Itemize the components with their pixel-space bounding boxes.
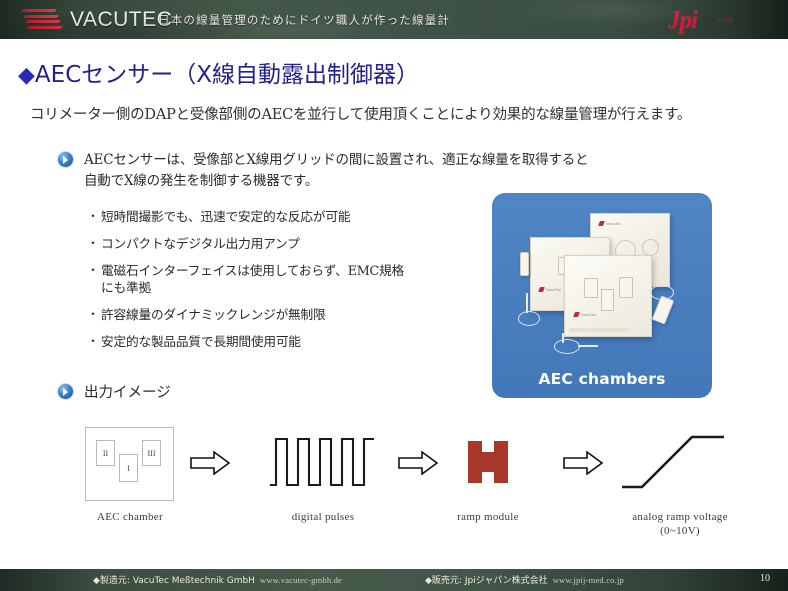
jpi-logo-mark: Jpi — [668, 7, 697, 35]
block-arrow-right-icon-2 — [398, 451, 438, 475]
description-paragraph: AECセンサーは、受像部とX線用グリッドの間に設置され、適正な線量を取得すると … — [84, 150, 504, 192]
footer-left-diamond-icon: ◆ — [93, 576, 100, 586]
footer-right-label: 販売元: Jpiジャパン株式会社 — [432, 576, 548, 586]
vacutec-wave-logo-icon — [22, 6, 62, 34]
list-item: 安定的な製品品質で長期間使用可能 — [92, 333, 472, 350]
list-item: 短時間撮影でも、迅速で安定的な反応が可能 — [92, 208, 472, 225]
title-text: AECセンサー（X線自動露出制御器） — [35, 62, 419, 88]
caption-analog-ramp-line2: (0~10V) — [600, 525, 760, 537]
header-tagline: 日本の線量管理のためにドイツ職人が作った線量計 — [158, 12, 450, 28]
footer-right-url[interactable]: www.jpij-med.co.jp — [553, 575, 624, 585]
cable-loop-front — [554, 339, 580, 354]
footer-manufacturer: ◆製造元: VacuTec Meßtechnik GmbHwww.vacutec… — [93, 573, 342, 586]
slide-footer: ◆製造元: VacuTec Meßtechnik GmbHwww.vacutec… — [0, 569, 788, 591]
footer-right-diamond-icon: ◆ — [425, 576, 432, 586]
caption-digital-pulses: digital pulses — [258, 511, 388, 523]
feature-text: 許容線量のダイナミックレンジが無制限 — [101, 307, 326, 322]
footer-left-url[interactable]: www.vacutec-gmbh.de — [260, 575, 342, 585]
footer-left-label: 製造元: VacuTec Meßtechnik GmbH — [100, 576, 255, 586]
flow-diagram: II I III AEC chamber digital pulses ramp… — [0, 415, 788, 560]
caption-aec-chamber: AEC chamber — [60, 511, 200, 523]
vacutec-chamber-logo: VacuTec — [599, 221, 621, 226]
lead-paragraph: コリメーター側のDAPと受像部側のAECを並行して使用頂くことにより効果的な線量… — [30, 103, 775, 124]
page-title: ◆AECセンサー（X線自動露出制御器） — [18, 55, 419, 89]
jpi-logo-sub: med — [716, 15, 733, 24]
description-line-1: AECセンサーは、受像部とX線用グリッドの間に設置され、適正な線量を取得すると — [84, 150, 504, 171]
chamber-connector-middle — [520, 252, 529, 276]
slide-header: VACUTEC 日本の線量管理のためにドイツ職人が作った線量計 Jpi med — [0, 0, 788, 39]
jpi-med-logo: Jpi med — [668, 5, 764, 35]
footer-distributor: ◆販売元: Jpiジャパン株式会社www.jpij-med.co.jp — [425, 573, 624, 586]
feature-list: 短時間撮影でも、迅速で安定的な反応が可能 コンパクトなデジタル出力用アンプ 電磁… — [92, 208, 472, 360]
output-section-label: 出力イメージ — [84, 381, 171, 402]
title-diamond-icon: ◆ — [18, 63, 35, 88]
blue-arrow-bullet-icon-output — [58, 384, 73, 399]
list-item: 電磁石インターフェイスは使用しておらず、EMC規格 にも準拠 — [92, 262, 472, 296]
block-arrow-right-icon-3 — [563, 451, 603, 475]
block-arrow-right-icon-1 — [190, 451, 230, 475]
photo-caption: AEC chambers — [492, 370, 712, 388]
cable-loop-left — [518, 311, 540, 326]
chamber-rect-field — [601, 289, 614, 311]
ramp-module-glyph — [465, 439, 511, 485]
description-line-2: 自動でX線の発生を制御する機器です。 — [84, 171, 504, 192]
digital-pulses-glyph — [270, 433, 375, 491]
caption-ramp-module: ramp module — [428, 511, 548, 523]
chamber-cell-right: III — [142, 440, 161, 466]
chamber-rect-field — [584, 278, 598, 298]
cable-front-tail — [578, 345, 598, 347]
chamber-rect-field — [619, 277, 633, 298]
feature-text: 短時間撮影でも、迅速で安定的な反応が可能 — [101, 209, 350, 224]
cable-front — [562, 333, 564, 343]
chamber-cell-left: II — [96, 440, 115, 466]
cable-left — [526, 293, 528, 313]
vacutec-wordmark: VACUTEC — [70, 8, 172, 32]
list-item: 許容線量のダイナミックレンジが無制限 — [92, 306, 472, 323]
aec-chambers-photo-panel: VacuTec VacuTec VacuTec AEC chambers — [492, 193, 712, 398]
analog-ramp-glyph — [620, 425, 730, 495]
chamber-strip — [569, 328, 629, 332]
page-number: 10 — [760, 573, 770, 584]
feature-text: 安定的な製品品質で長期間使用可能 — [101, 334, 301, 349]
caption-analog-ramp-line1: analog ramp voltage — [600, 511, 760, 523]
blue-arrow-bullet-icon — [58, 152, 73, 167]
feature-text: 電磁石インターフェイスは使用しておらず、EMC規格 — [101, 263, 404, 278]
feature-text: コンパクトなデジタル出力用アンプ — [101, 236, 300, 251]
chamber-connector-right — [652, 295, 675, 324]
vacutec-chamber-logo: VacuTec — [539, 287, 561, 292]
vacutec-chamber-logo: VacuTec — [574, 312, 596, 317]
chamber-circle-field — [642, 239, 659, 256]
chamber-panel-front: VacuTec — [564, 255, 652, 337]
aec-chamber-glyph: II I III — [85, 427, 174, 501]
list-item: コンパクトなデジタル出力用アンプ — [92, 235, 472, 252]
feature-text-cont: にも準拠 — [101, 280, 151, 295]
chamber-cell-center: I — [119, 454, 138, 482]
